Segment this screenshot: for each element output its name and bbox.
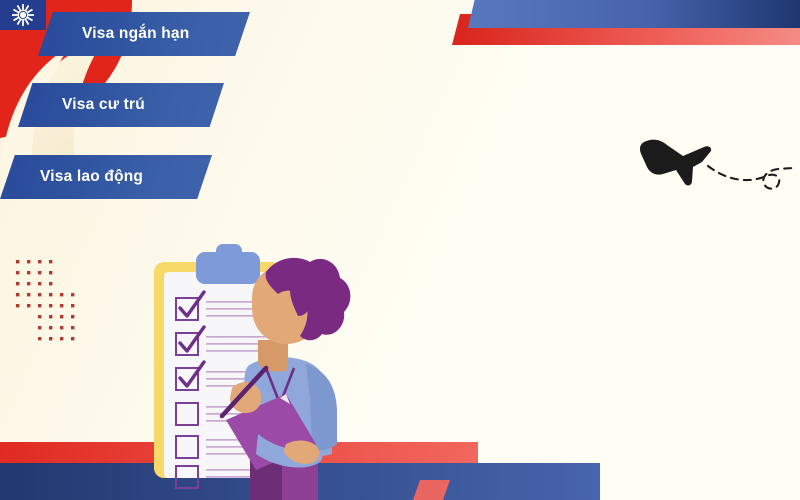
airplane-icon bbox=[630, 128, 795, 198]
person-hand-upper bbox=[230, 382, 261, 413]
visa-category-label: Visa lao động bbox=[0, 168, 143, 186]
visa-category-label: Visa cư trú bbox=[18, 96, 145, 114]
plane-trail bbox=[708, 166, 793, 189]
clipboard-clip-top bbox=[216, 244, 242, 260]
dot-grid-decoration bbox=[14, 258, 94, 350]
visa-category-item-short-term[interactable]: Visa ngắn hạn bbox=[38, 12, 250, 56]
visa-category-label: Visa ngắn hạn bbox=[38, 25, 189, 43]
visa-category-item-work[interactable]: Visa lao động bbox=[0, 155, 212, 199]
top-right-decorative-bars bbox=[430, 0, 800, 80]
person-neck bbox=[258, 340, 288, 372]
poster-canvas: PHÂN LOẠI THEO MỤC ĐÍCH NHẬP CẢNH Visa n… bbox=[0, 0, 800, 500]
visa-category-item-residence[interactable]: Visa cư trú bbox=[18, 83, 224, 127]
top-blue-bar bbox=[468, 0, 800, 28]
person-with-checklist-illustration bbox=[140, 238, 370, 500]
